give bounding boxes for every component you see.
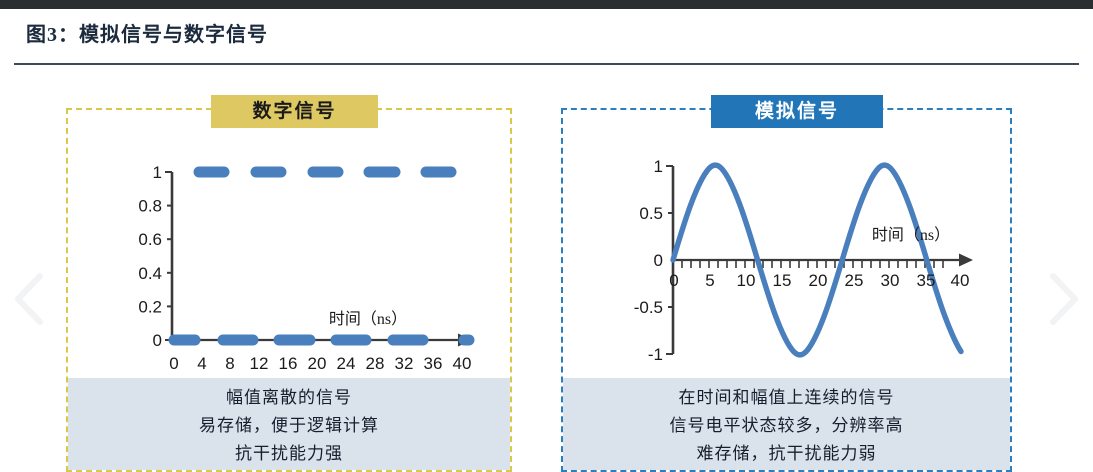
analog-x-ticklabels: 0 5 10 15 20 25 30 35 40 xyxy=(669,271,969,290)
top-dark-bar xyxy=(0,0,1093,9)
carousel-next-button[interactable] xyxy=(1039,268,1085,330)
analog-x-minor-ticks xyxy=(682,260,943,268)
analog-x-axis-label: 时间（ns） xyxy=(872,226,950,244)
svg-text:28: 28 xyxy=(366,354,385,373)
digital-signal-chart: 1 0.8 0.6 0.4 0.2 0 xyxy=(68,128,510,378)
figure-root: 图3：模拟信号与数字信号 数字信号 1 0.8 xyxy=(0,0,1093,472)
analog-signal-svg: 1 0.5 0 -0.5 -1 xyxy=(563,128,1014,378)
chevron-left-icon[interactable] xyxy=(8,268,54,330)
digital-caption: 幅值离散的信号 易存储，便于逻辑计算 抗干扰能力强 xyxy=(68,378,510,470)
panel-digital-signal: 数字信号 1 0.8 0.6 0.4 xyxy=(66,108,512,472)
svg-text:15: 15 xyxy=(773,271,792,290)
svg-text:35: 35 xyxy=(917,271,936,290)
svg-text:-0.5: -0.5 xyxy=(634,298,663,317)
svg-text:24: 24 xyxy=(337,354,356,373)
svg-text:4: 4 xyxy=(197,354,206,373)
digital-caption-line-1: 幅值离散的信号 xyxy=(226,385,352,411)
svg-text:1: 1 xyxy=(654,157,663,176)
svg-text:-1: -1 xyxy=(648,345,663,364)
svg-text:1: 1 xyxy=(153,163,162,182)
svg-text:20: 20 xyxy=(809,271,828,290)
analog-caption-line-2: 信号电平状态较多，分辨率高 xyxy=(670,413,904,439)
svg-text:40: 40 xyxy=(453,354,472,373)
svg-text:0.8: 0.8 xyxy=(138,197,162,216)
svg-text:0: 0 xyxy=(153,331,162,350)
svg-text:0: 0 xyxy=(654,251,663,270)
svg-text:36: 36 xyxy=(424,354,443,373)
panel-analog-signal: 模拟信号 1 0.5 0 -0.5 -1 xyxy=(561,108,1012,472)
analog-y-ticklabels: 1 0.5 0 -0.5 -1 xyxy=(634,157,663,364)
analog-signal-chart: 1 0.5 0 -0.5 -1 xyxy=(563,128,1010,378)
page-title: 图3：模拟信号与数字信号 xyxy=(26,18,268,47)
svg-text:10: 10 xyxy=(737,271,756,290)
digital-caption-line-3: 抗干扰能力强 xyxy=(235,441,343,467)
svg-text:40: 40 xyxy=(951,271,970,290)
svg-text:0.2: 0.2 xyxy=(138,297,162,316)
analog-caption: 在时间和幅值上连续的信号 信号电平状态较多，分辨率高 难存储，抗干扰能力弱 xyxy=(563,378,1010,470)
svg-text:8: 8 xyxy=(225,354,234,373)
svg-text:32: 32 xyxy=(395,354,414,373)
svg-text:0.5: 0.5 xyxy=(639,204,663,223)
svg-text:0: 0 xyxy=(169,354,178,373)
svg-text:30: 30 xyxy=(881,271,900,290)
carousel-prev-button[interactable] xyxy=(8,268,54,330)
digital-y-ticklabels: 1 0.8 0.6 0.4 0.2 0 xyxy=(138,163,162,350)
svg-text:0: 0 xyxy=(669,271,678,290)
digital-x-axis-label: 时间（ns） xyxy=(329,310,407,328)
svg-text:12: 12 xyxy=(250,354,269,373)
analog-caption-line-3: 难存储，抗干扰能力弱 xyxy=(697,441,877,467)
panel-digital-header: 数字信号 xyxy=(211,95,378,128)
svg-text:0.6: 0.6 xyxy=(138,230,162,249)
digital-x-ticklabels: 0 4 8 12 16 20 24 28 32 36 40 xyxy=(169,354,471,373)
panel-analog-header: 模拟信号 xyxy=(711,95,883,128)
svg-text:16: 16 xyxy=(279,354,298,373)
digital-caption-line-2: 易存储，便于逻辑计算 xyxy=(199,413,379,439)
analog-caption-line-1: 在时间和幅值上连续的信号 xyxy=(679,385,895,411)
svg-text:5: 5 xyxy=(705,271,714,290)
svg-text:20: 20 xyxy=(308,354,327,373)
digital-signal-svg: 1 0.8 0.6 0.4 0.2 0 xyxy=(68,128,514,378)
svg-text:0.4: 0.4 xyxy=(138,264,162,283)
title-divider xyxy=(14,63,1079,65)
svg-text:25: 25 xyxy=(845,271,864,290)
chevron-right-icon[interactable] xyxy=(1039,268,1085,330)
analog-x-axis-arrow xyxy=(959,254,973,267)
